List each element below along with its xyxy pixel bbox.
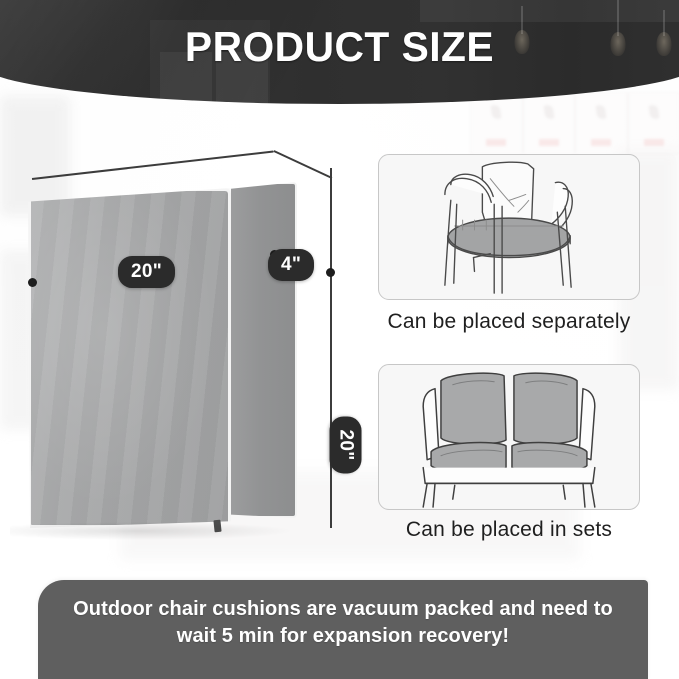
cushion-product-image (28, 182, 296, 528)
cushion-front-face (28, 188, 231, 528)
usage-panel-single-chair (378, 154, 640, 300)
header-ceiling-beam (420, 0, 679, 22)
panel-1-caption: Can be placed separately (378, 310, 640, 334)
height-dimension-badge: 20" (330, 416, 362, 473)
height-dimension-line (330, 168, 332, 528)
cushion-side-face (231, 182, 297, 518)
loveseat-illustration-icon (379, 365, 639, 509)
dimension-endpoint-dot (28, 278, 37, 287)
width-dimension-badge: 20" (118, 256, 175, 288)
header-banner: PRODUCT SIZE (0, 0, 679, 104)
armchair-illustration-icon (379, 155, 639, 299)
usage-panel-sofa-set (378, 364, 640, 510)
dimension-endpoint-dot (326, 268, 335, 277)
infographic-canvas: PRODUCT SIZE 20" 4" 20" (0, 0, 679, 679)
depth-dimension-badge: 4" (268, 249, 314, 281)
depth-dimension-line (274, 150, 333, 178)
panel-2-caption: Can be placed in sets (378, 518, 640, 542)
product-dimension-diagram: 20" 4" 20" (0, 104, 360, 574)
width-dimension-line (32, 150, 274, 179)
page-title: PRODUCT SIZE (10, 26, 669, 68)
notice-banner-text: Outdoor chair cushions are vacuum packed… (62, 596, 624, 650)
cushion-drop-shadow (10, 522, 290, 540)
notice-banner: Outdoor chair cushions are vacuum packed… (38, 580, 648, 679)
